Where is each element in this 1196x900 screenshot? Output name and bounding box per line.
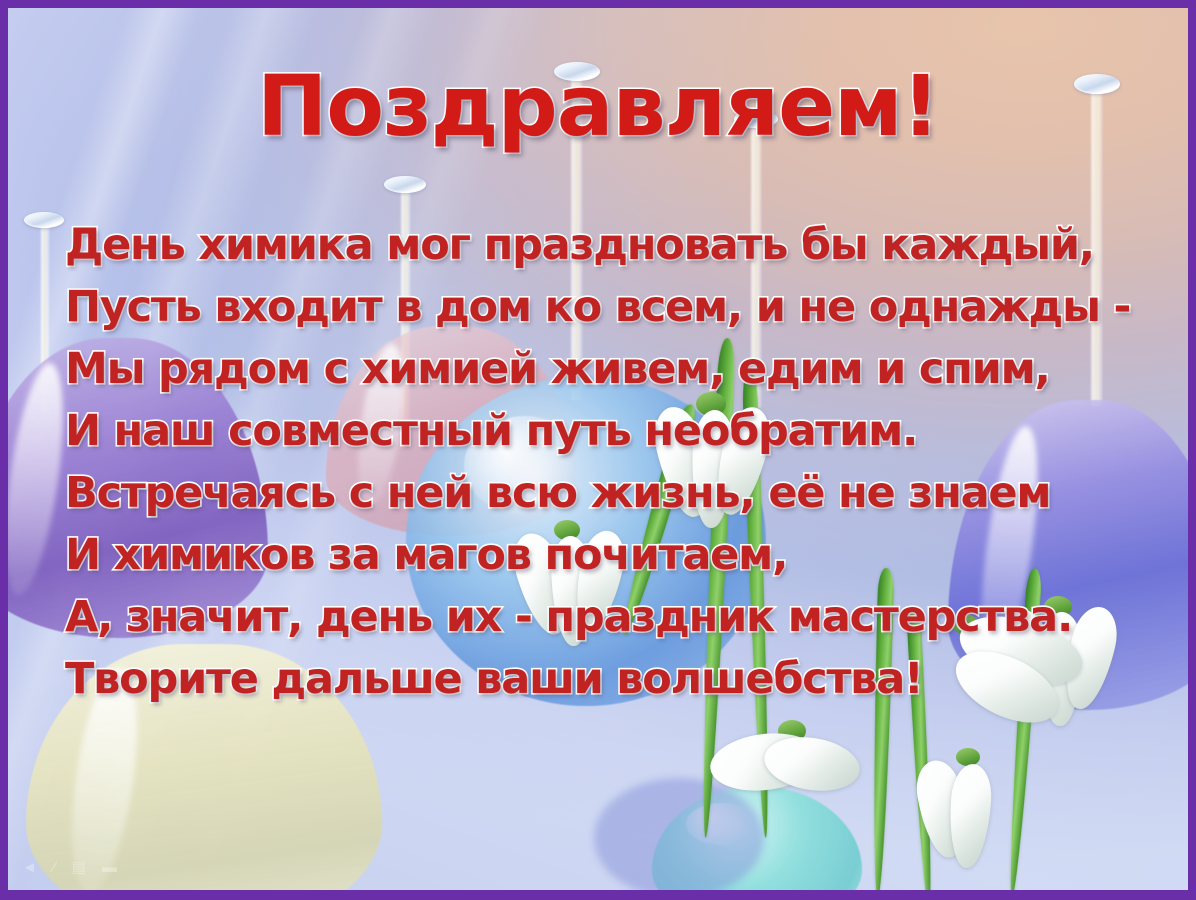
poem-line: А, значит, день их - праздник мастерства… [65, 586, 1165, 648]
poem-line: И наш совместный путь необратим. [65, 400, 1165, 462]
poem-line: Встречаясь с ней всю жизнь, её не знаем [65, 462, 1165, 524]
greeting-card: Поздравляем! День химика мог праздновать… [0, 0, 1196, 900]
card-inner-frame: Поздравляем! День химика мог праздновать… [8, 8, 1188, 890]
poem-line: Мы рядом с химией живем, едим и спим, [65, 338, 1165, 400]
poem-block: День химика мог праздновать бы каждый, П… [65, 214, 1165, 710]
card-headline: Поздравляем! [8, 64, 1188, 148]
poem-line: Творите дальше ваши волшебства! [65, 648, 1165, 710]
watermark: ◄ ∕ ▤ ▬ [22, 858, 123, 876]
poem-line: День химика мог праздновать бы каждый, [65, 214, 1165, 276]
poem-line: И химиков за магов почитаем, [65, 524, 1165, 586]
poem-line: Пусть входит в дом ко всем, и не однажды… [65, 276, 1165, 338]
text-content: Поздравляем! День химика мог праздновать… [8, 8, 1188, 890]
